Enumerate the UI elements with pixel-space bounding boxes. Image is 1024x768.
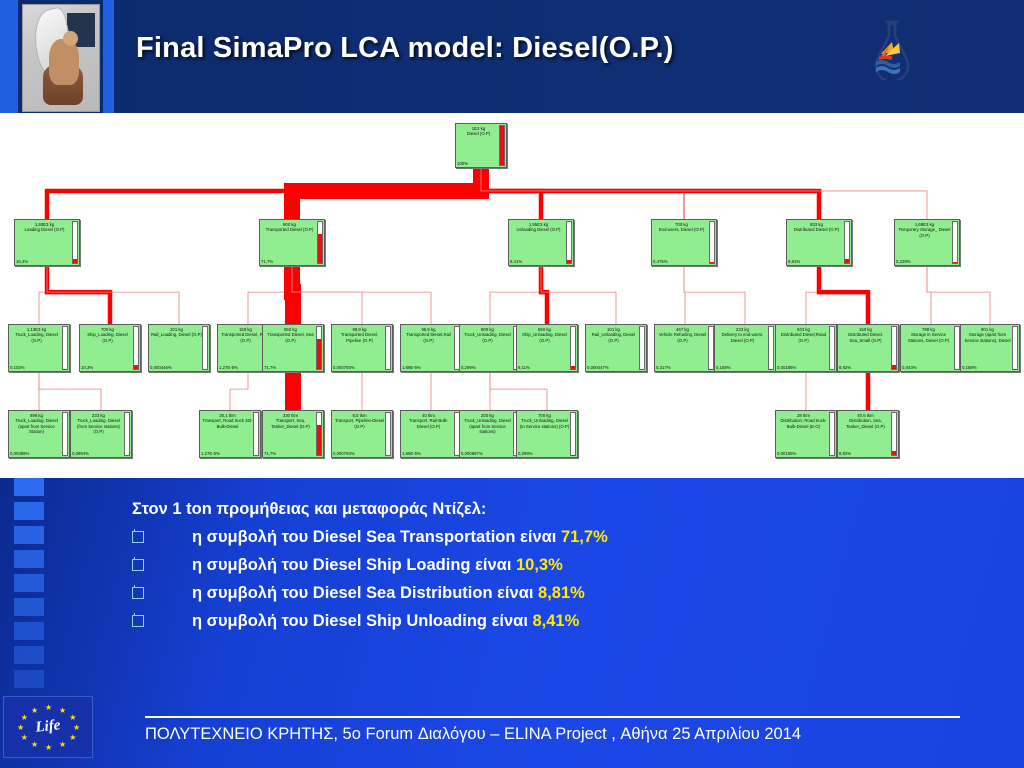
node-percentage: 0,00389%	[9, 451, 69, 457]
node-percentage: 0,000793%	[332, 365, 392, 371]
eu-star-icon: ★	[21, 714, 28, 722]
node-contribution-gauge	[844, 221, 850, 264]
process-node[interactable]: 1,69E3 kgTemporary Storage_ Diesel (O.P)…	[894, 219, 960, 266]
bullet-lead-text: Στον 1 ton προμήθειας και μεταφοράς Ντίζ…	[132, 500, 992, 519]
slide-root: Final SimaPro LCA model: Diesel(O.P.) PR…	[0, 0, 1024, 768]
process-node[interactable]: 550 kgTransported Diesel, Sea (O.P)71,7%	[262, 324, 324, 372]
node-name: Unloading Diesel (O.P)	[517, 227, 561, 232]
node-contribution-gauge	[316, 412, 322, 456]
crest-figure	[49, 39, 79, 85]
node-percentage: 0,000447%	[586, 365, 646, 371]
node-contribution-gauge	[570, 412, 576, 456]
gauge-fill	[73, 259, 77, 263]
crest-head	[63, 31, 78, 46]
process-node[interactable]: 233 kgTruck_Loading, Diesel (from Servic…	[70, 410, 132, 458]
node-contribution-gauge	[316, 326, 322, 370]
bullet-value: 71,7%	[561, 528, 608, 546]
node-percentage: 0,158%	[715, 365, 775, 371]
process-node[interactable]: 550 kgShip_Unloading, Diesel (O.P)8,11%	[516, 324, 578, 372]
eu-star-icon: ★	[31, 707, 38, 715]
node-percentage: 0,188%	[961, 365, 1019, 371]
node-amount: 899 kg	[30, 413, 43, 418]
node-amount: 933 kg	[797, 327, 810, 332]
process-node[interactable]: 1,13E3 kgTruck_Loading, Diesel (O.P)0,10…	[8, 324, 70, 372]
node-label: 200 kgTruck_Unloading, Diesel (apart fro…	[460, 411, 520, 451]
eu-star-icon: ★	[45, 744, 52, 752]
node-name: Transported Diesel, Sea (O.P)	[267, 332, 313, 342]
node-percentage: 1,27E-5%	[200, 451, 260, 457]
node-name: Truck_Loading, Diesel (from Service stat…	[77, 418, 120, 434]
bullet-list: Στον 1 ton προμήθειας και μεταφοράς Ντίζ…	[132, 500, 992, 640]
node-name: Distribution, Sea, Tanker_Diesel (O.P)	[846, 418, 885, 428]
eu-star-icon: ★	[69, 714, 76, 722]
node-percentage: 1,69E-5%	[401, 451, 461, 457]
node-label: 900 kgTransported Diesel (O.P)	[260, 220, 324, 259]
node-label: 150 kgDistributed Diesel, Sea_Small (O.P…	[838, 325, 898, 365]
node-percentage: 0,0994%	[71, 451, 131, 457]
bullet-value: 8,41%	[532, 612, 579, 630]
node-name: Transport, Road truck 32t-Bulk-Diesel	[203, 418, 253, 428]
node-contribution-gauge	[639, 326, 645, 370]
node-percentage: 0,299%	[460, 365, 520, 371]
node-amount: 150 kg	[859, 327, 872, 332]
tree-link	[481, 168, 684, 219]
node-name: Distribution, Road truck-Bulk-Diesel (E-…	[780, 418, 826, 428]
tree-link	[481, 168, 819, 219]
process-node[interactable]: 330 tkmTransport, Sea, Tanker_Diesel (O.…	[262, 410, 324, 458]
footer-text: ΠΟΛΥΤΕΧΝΕΙΟ ΚΡΗΤΗΣ, 5ο Forum Διαλόγου – …	[145, 725, 975, 744]
node-name: Truck_Unloading, Diesel (apart from Serv…	[464, 418, 511, 434]
tree-link	[490, 372, 547, 410]
node-contribution-gauge	[62, 412, 68, 456]
node-name: Delivery to end-users, Diesel (O.P)	[722, 332, 764, 342]
bullet-square-icon	[132, 615, 144, 627]
process-node[interactable]: 98,9 kgTransported Diesel,Rail (O.P)1,69…	[400, 324, 462, 372]
node-contribution-gauge	[133, 326, 139, 370]
process-node[interactable]: 1,55E3 kgUnloading Diesel (O.P)8,41%	[508, 219, 574, 266]
node-name: Distributed Diesel,Road (O.P)	[781, 332, 826, 342]
eu-star-icon: ★	[31, 741, 38, 749]
node-contribution-gauge	[952, 221, 958, 264]
node-percentage: 8,82%	[838, 365, 898, 371]
node-contribution-gauge	[317, 221, 323, 264]
node-name: Truck_Unloading, Diesel (to Service stat…	[520, 418, 569, 428]
process-node[interactable]: 30,1 tkmTransport, Road truck 32t-Bulk-D…	[199, 410, 261, 458]
node-label: 101 kgRail_Unloading, Diesel (O.P)	[586, 325, 646, 365]
tree-link	[927, 266, 990, 324]
node-name: Rail_Loading, Diesel (O.P)	[151, 332, 202, 337]
decorative-square	[14, 502, 44, 520]
slide-footer: ΠΟΛΥΤΕΧΝΕΙΟ ΚΡΗΤΗΣ, 5ο Forum Διαλόγου – …	[145, 716, 975, 744]
node-percentage: 71,7%	[263, 365, 323, 371]
process-node[interactable]: 467 kgVehicle Refueling, Diesel (O.P)0,3…	[654, 324, 716, 372]
node-percentage: 0,317%	[655, 365, 715, 371]
node-percentage: 0,229%	[895, 259, 959, 265]
gauge-fill	[845, 259, 849, 263]
eu-star-icon: ★	[73, 724, 80, 732]
node-name: End-users, Diesel (O.P)	[659, 227, 704, 232]
node-percentage: 0,475%	[652, 259, 716, 265]
process-node[interactable]: 99,9 kgTransported Diesel, Pipeline (O.P…	[331, 324, 393, 372]
bullet-text: η συμβολή του Diesel Sea Distribution εί…	[192, 584, 585, 603]
process-node[interactable]: 40,6 tkmDistribution, Sea, Tanker_Diesel…	[837, 410, 899, 458]
bullet-item: η συμβολή του Diesel Sea Distribution εί…	[132, 584, 992, 603]
node-name: Transport, Rail-Bulk-Diesel (O.P)	[409, 418, 448, 428]
eu-life-logo: Life ★★★★★★★★★★★★	[3, 696, 93, 758]
bullet-value: 8,81%	[538, 584, 585, 602]
node-label: 901 kgStorage (apart from Service statio…	[961, 325, 1019, 365]
node-percentage: 8,82%	[838, 451, 898, 457]
node-percentage: 0,00185%	[776, 365, 836, 371]
node-contribution-gauge	[768, 326, 774, 370]
node-amount: 901 kg	[981, 327, 994, 332]
page-title: Final SimaPro LCA model: Diesel(O.P.)	[136, 32, 674, 65]
bullet-items: η συμβολή του Diesel Sea Transportation …	[132, 528, 992, 631]
node-label: 550 kgTransported Diesel, Sea (O.P)	[263, 325, 323, 365]
bullet-text: η συμβολή του Diesel Sea Transportation …	[192, 528, 608, 547]
node-amount: 1,13E3 kg	[27, 327, 46, 332]
bullet-square-icon	[132, 587, 144, 599]
node-name: Transported Diesel (O.P)	[266, 227, 314, 232]
node-label: 900 kgTruck_Unloading, Diesel (O.P)	[460, 325, 520, 365]
tree-link	[541, 266, 547, 324]
node-label: 330 tkmTransport, Sea, Tanker_Diesel (O.…	[263, 411, 323, 451]
node-name: Distributed Diesel, Sea_Small (O.P)	[848, 332, 883, 342]
node-contribution-gauge	[62, 326, 68, 370]
tree-link	[684, 266, 745, 324]
proteas-logo: PROTEAS	[845, 18, 1020, 80]
node-amount: 1,69E3 kg	[915, 222, 934, 227]
gauge-fill	[134, 365, 138, 369]
life-wordmark: Life	[35, 717, 62, 737]
node-name: Transport, Pipeline-Diesel (O.P)	[335, 418, 384, 428]
process-node[interactable]: 40 tkmTransport, Rail-Bulk-Diesel (O.P)1…	[400, 410, 462, 458]
node-name: Transported Diesel,Rail (O.P)	[406, 332, 451, 342]
node-label: 700 kgShip_Loading, Diesel (O.P)	[80, 325, 140, 365]
node-amount: 98,9 kg	[421, 327, 435, 332]
node-percentage: 71,7%	[263, 451, 323, 457]
node-amount: 700 kg	[101, 327, 114, 332]
node-contribution-gauge	[709, 221, 715, 264]
bullet-item: η συμβολή του Diesel Ship Unloading είνα…	[132, 612, 992, 631]
gauge-fill	[500, 126, 504, 165]
node-amount: 550 kg	[284, 327, 297, 332]
eu-star-icon: ★	[21, 734, 28, 742]
slide-header: Final SimaPro LCA model: Diesel(O.P.) PR…	[0, 0, 1024, 113]
node-label: 40,6 tkmDistribution, Sea, Tanker_Diesel…	[838, 411, 898, 451]
process-node[interactable]: 899 kgTruck_Loading, Diesel (apart from …	[8, 410, 70, 458]
node-percentage: 8,41%	[509, 259, 573, 265]
node-contribution-gauge	[499, 125, 505, 166]
node-amount: 40,6 tkm	[857, 413, 873, 418]
node-name: Truck_Unloading, Diesel (O.P)	[464, 332, 511, 342]
decorative-square	[14, 598, 44, 616]
node-name: Diesel (O.P)	[467, 131, 490, 136]
node-name: Temporary Storage_ Diesel (O.P)	[898, 227, 950, 237]
bullet-square-icon	[132, 559, 144, 571]
header-accent-strip-left	[0, 0, 18, 113]
node-percentage: 0,000793%	[332, 451, 392, 457]
node-name: Storage (apart from Service stations), D…	[964, 332, 1010, 342]
decorative-square	[14, 478, 44, 496]
node-percentage: 1,69E-5%	[401, 365, 461, 371]
node-percentage: 0,00185%	[776, 451, 836, 457]
node-amount: 40 tkm	[422, 413, 435, 418]
process-node[interactable]: 200 kgTruck_Unloading, Diesel (apart fro…	[459, 410, 521, 458]
node-contribution-gauge	[202, 326, 208, 370]
tree-link	[292, 168, 481, 219]
process-node[interactable]: 700 kgShip_Loading, Diesel (O.P)10,3%	[79, 324, 141, 372]
node-percentage: 0,299%	[517, 451, 577, 457]
process-node[interactable]: 8,5 tkmTransport, Pipeline-Diesel (O.P)0…	[331, 410, 393, 458]
gauge-fill	[892, 365, 896, 369]
slide-body: Life ★★★★★★★★★★★★ Στον 1 ton προμήθειας …	[0, 478, 1024, 768]
process-node[interactable]: 28 tkmDistribution, Road truck-Bulk-Dies…	[775, 410, 837, 458]
node-amount: 30,1 tkm	[219, 413, 235, 418]
header-accent-strip-right	[103, 0, 114, 113]
eu-star-icon: ★	[59, 707, 66, 715]
sankey-process-tree: 1E3 kgDiesel (O.P)100%1,93E3 kgLoading D…	[0, 113, 1024, 478]
process-node[interactable]: 900 kgTruck_Unloading, Diesel (O.P)0,299…	[459, 324, 521, 372]
node-amount: 150 kg	[239, 327, 252, 332]
process-node[interactable]: 788 kgStorage in Service Stations, Diese…	[900, 324, 962, 372]
node-contribution-gauge	[566, 221, 572, 264]
bullet-text: η συμβολή του Diesel Ship Unloading είνα…	[192, 612, 579, 631]
node-name: Storage in Service Stations, Diesel (O.P…	[908, 332, 949, 342]
bullet-value: 10,3%	[516, 556, 563, 574]
node-name: Transport, Sea, Tanker_Diesel (O.P)	[271, 418, 310, 428]
node-name: Rail_Unloading, Diesel (O.P)	[592, 332, 635, 342]
node-percentage: 0,043%	[901, 365, 961, 371]
node-label: 700 kgTruck_Unloading, Diesel (to Servic…	[517, 411, 577, 451]
bullet-square-icon	[132, 531, 144, 543]
node-amount: 330 tkm	[283, 413, 298, 418]
flask-sun-sea-icon	[845, 18, 1020, 80]
process-node[interactable]: 150 kgDistributed Diesel, Sea_Small (O.P…	[837, 324, 899, 372]
decorative-square	[14, 646, 44, 664]
tree-link	[481, 168, 927, 219]
node-contribution-gauge	[124, 412, 130, 456]
node-percentage: 0,000446%	[149, 365, 209, 371]
decorative-square-column	[14, 478, 54, 693]
process-node[interactable]: 1E3 kgDiesel (O.P)100%	[455, 123, 507, 168]
gauge-fill	[571, 366, 575, 369]
node-label: 467 kgVehicle Refueling, Diesel (O.P)	[655, 325, 715, 365]
node-amount: 550 kg	[538, 327, 551, 332]
node-amount: 8,5 tkm	[352, 413, 366, 418]
node-contribution-gauge	[385, 412, 391, 456]
bullet-item: η συμβολή του Diesel Sea Transportation …	[132, 528, 992, 547]
node-label: 1,93E3 kgLoading Diesel (O.P)	[15, 220, 79, 259]
node-contribution-gauge	[72, 221, 78, 264]
node-label: 899 kgTruck_Loading, Diesel (apart from …	[9, 411, 69, 451]
node-label: 233 kgDelivery to end-users, Diesel (O.P…	[715, 325, 775, 365]
process-node[interactable]: 101 kgRail_Unloading, Diesel (O.P)0,0004…	[585, 324, 647, 372]
node-percentage: 8,81%	[787, 259, 851, 265]
node-contribution-gauge	[891, 326, 897, 370]
node-amount: 788 kg	[922, 327, 935, 332]
footer-divider	[145, 716, 960, 718]
node-amount: 700 kg	[538, 413, 551, 418]
process-node[interactable]: 900 kgTransported Diesel (O.P)71,7%	[259, 219, 325, 266]
node-amount: 1,55E3 kg	[529, 222, 548, 227]
tree-link	[39, 372, 101, 410]
gauge-fill	[892, 451, 896, 455]
gauge-fill	[318, 234, 322, 263]
node-label: 8,5 tkmTransport, Pipeline-Diesel (O.P)	[332, 411, 392, 451]
decorative-square	[14, 526, 44, 544]
node-label: 1,13E3 kgTruck_Loading, Diesel (O.P)	[9, 325, 69, 365]
node-label: 98,9 kgTransported Diesel,Rail (O.P)	[401, 325, 461, 365]
node-contribution-gauge	[253, 412, 259, 456]
process-node[interactable]: 233 kgDelivery to end-users, Diesel (O.P…	[714, 324, 776, 372]
node-amount: 900 kg	[283, 222, 296, 227]
node-name: Truck_Loading, Diesel (apart from Servic…	[15, 418, 58, 434]
process-node[interactable]: 101 kgRail_Loading, Diesel (O.P)0,000446…	[148, 324, 210, 372]
decorative-square	[14, 574, 44, 592]
node-amount: 28 tkm	[797, 413, 810, 418]
gauge-fill	[317, 339, 321, 369]
node-label: 933 kgDistributed Diesel (O.P)	[787, 220, 851, 259]
node-label: 788 kgStorage in Service Stations, Diese…	[901, 325, 961, 365]
gauge-fill	[567, 260, 571, 263]
process-node[interactable]: 700 kgTruck_Unloading, Diesel (to Servic…	[516, 410, 578, 458]
node-name: Distributed Diesel (O.P)	[794, 227, 839, 232]
node-percentage: 0,103%	[9, 365, 69, 371]
gauge-fill	[317, 425, 321, 455]
node-label: 30,1 tkmTransport, Road truck 32t-Bulk-D…	[200, 411, 260, 451]
node-amount: 1E3 kg	[472, 126, 485, 131]
node-label: 40 tkmTransport, Rail-Bulk-Diesel (O.P)	[401, 411, 461, 451]
node-label: 1,55E3 kgUnloading Diesel (O.P)	[509, 220, 573, 259]
node-label: 933 kgDistributed Diesel,Road (O.P)	[776, 325, 836, 365]
decorative-square	[14, 550, 44, 568]
process-node[interactable]: 1,93E3 kgLoading Diesel (O.P)10,4%	[14, 219, 80, 266]
tree-link	[541, 266, 616, 324]
node-amount: 233 kg	[92, 413, 105, 418]
node-label: 28 tkmDistribution, Road truck-Bulk-Dies…	[776, 411, 836, 451]
process-node[interactable]: 933 kgDistributed Diesel,Road (O.P)0,001…	[775, 324, 837, 372]
tree-link	[230, 372, 248, 410]
node-percentage: 8,11%	[517, 365, 577, 371]
tree-link	[819, 266, 868, 324]
node-amount: 1,93E3 kg	[35, 222, 54, 227]
node-amount: 900 kg	[481, 327, 494, 332]
tree-link	[292, 266, 362, 324]
eu-star-icon: ★	[69, 734, 76, 742]
node-amount: 99,9 kg	[352, 327, 366, 332]
node-amount: 933 kg	[810, 222, 823, 227]
tree-link	[927, 266, 931, 324]
node-amount: 200 kg	[481, 413, 494, 418]
process-node[interactable]: 901 kgStorage (apart from Service statio…	[960, 324, 1020, 372]
node-label: 700 kgEnd-users, Diesel (O.P)	[652, 220, 716, 259]
node-contribution-gauge	[1012, 326, 1018, 370]
node-name: Truck_Loading, Diesel (O.P)	[15, 332, 58, 342]
node-name: Ship_Unloading, Diesel (O.P)	[522, 332, 567, 342]
eu-star-icon: ★	[17, 724, 24, 732]
node-amount: 467 kg	[676, 327, 689, 332]
gauge-fill	[953, 262, 957, 263]
tree-link	[47, 266, 110, 324]
node-amount: 700 kg	[675, 222, 688, 227]
node-contribution-gauge	[829, 326, 835, 370]
tree-link	[47, 266, 179, 324]
polytechneio-kritis-crest	[22, 4, 100, 112]
node-amount: 101 kg	[607, 327, 620, 332]
decorative-square	[14, 622, 44, 640]
node-name: Loading Diesel (O.P)	[25, 227, 65, 232]
node-contribution-gauge	[829, 412, 835, 456]
node-name: Transported Diesel, Pipeline (O.P)	[341, 332, 378, 342]
eu-star-icon: ★	[45, 704, 52, 712]
decorative-square	[14, 670, 44, 688]
node-label: 99,9 kgTransported Diesel, Pipeline (O.P…	[332, 325, 392, 365]
node-contribution-gauge	[385, 326, 391, 370]
process-node[interactable]: 933 kgDistributed Diesel (O.P)8,81%	[786, 219, 852, 266]
tree-link	[481, 168, 541, 219]
bullet-text: η συμβολή του Diesel Ship Loading είναι …	[192, 556, 563, 575]
node-percentage: 71,7%	[260, 259, 324, 265]
node-label: 101 kgRail_Loading, Diesel (O.P)	[149, 325, 209, 365]
tree-link	[292, 266, 431, 324]
node-amount: 101 kg	[170, 327, 183, 332]
gauge-fill	[710, 262, 714, 263]
node-name: Ship_Loading, Diesel (O.P)	[87, 332, 128, 342]
node-percentage: 10,3%	[80, 365, 140, 371]
bullet-item: η συμβολή του Diesel Ship Loading είναι …	[132, 556, 992, 575]
eu-star-icon: ★	[59, 741, 66, 749]
node-percentage: 0,000887%	[460, 451, 520, 457]
node-percentage: 10,4%	[15, 259, 79, 265]
node-contribution-gauge	[570, 326, 576, 370]
node-label: 233 kgTruck_Loading, Diesel (from Servic…	[71, 411, 131, 451]
node-label: 550 kgShip_Unloading, Diesel (O.P)	[517, 325, 577, 365]
node-name: Vehicle Refueling, Diesel (O.P)	[659, 332, 707, 342]
tree-link	[490, 266, 541, 324]
node-amount: 233 kg	[736, 327, 749, 332]
node-contribution-gauge	[891, 412, 897, 456]
node-label: 1,69E3 kgTemporary Storage_ Diesel (O.P)	[895, 220, 959, 259]
process-node[interactable]: 700 kgEnd-users, Diesel (O.P)0,475%	[651, 219, 717, 266]
